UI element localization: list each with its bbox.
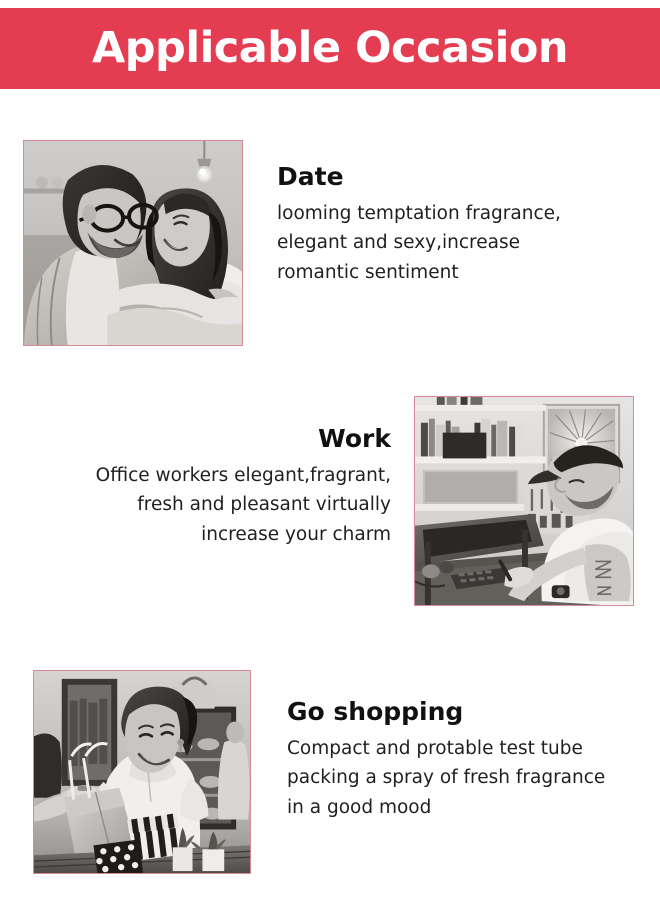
page-banner: Applicable Occasion [0, 8, 660, 89]
section-body-line: romantic sentiment [277, 258, 657, 288]
photo-date-couple-graphic [24, 141, 242, 345]
section-title-work: Work [20, 425, 391, 453]
section-title-date: Date [277, 163, 657, 191]
page-title: Applicable Occasion [92, 27, 568, 70]
section-body-work: Office workers elegant,fragrant, fresh a… [20, 461, 391, 551]
section-title-shopping: Go shopping [287, 698, 657, 726]
photo-shopping-store [33, 670, 251, 874]
section-body-line: increase your charm [20, 520, 391, 550]
section-body-line: elegant and sexy,increase [277, 228, 657, 258]
photo-work-desk-graphic [415, 397, 633, 605]
section-body-date: looming temptation fragrance, elegant an… [277, 199, 657, 289]
section-body-line: Compact and protable test tube [287, 734, 657, 764]
section-body-line: packing a spray of fresh fragrance [287, 763, 657, 793]
section-body-line: looming temptation fragrance, [277, 199, 657, 229]
text-block-shopping: Go shopping Compact and protable test tu… [287, 698, 657, 823]
photo-date-couple [23, 140, 243, 346]
text-block-work: Work Office workers elegant,fragrant, fr… [20, 425, 391, 550]
section-body-line: in a good mood [287, 793, 657, 823]
section-body-shopping: Compact and protable test tube packing a… [287, 734, 657, 824]
text-block-date: Date looming temptation fragrance, elega… [277, 163, 657, 288]
photo-shopping-store-graphic [34, 671, 250, 873]
section-body-line: fresh and pleasant virtually [20, 490, 391, 520]
photo-work-desk [414, 396, 634, 606]
section-body-line: Office workers elegant,fragrant, [20, 461, 391, 491]
